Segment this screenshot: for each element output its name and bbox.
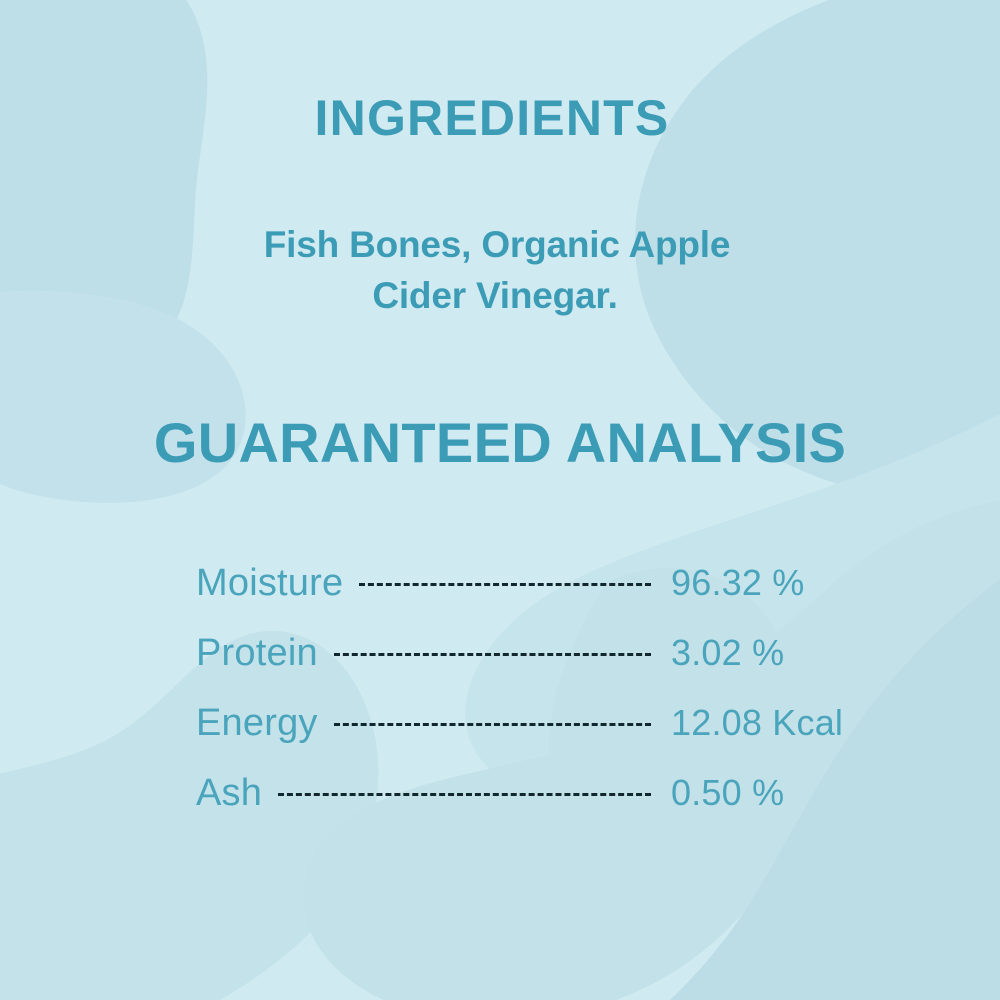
analysis-label: Ash <box>196 772 262 815</box>
analysis-label: Protein <box>196 632 318 675</box>
analysis-value: 0.50 % <box>667 772 856 814</box>
guaranteed-analysis-heading: GUARANTEED ANALYSIS <box>0 415 1000 471</box>
analysis-value: 12.08 Kcal <box>667 702 856 744</box>
analysis-label: Energy <box>196 702 318 745</box>
analysis-label: Moisture <box>196 562 343 605</box>
leader-dots <box>334 653 651 657</box>
ingredients-line-2: Cider Vinegar. <box>0 270 1000 321</box>
analysis-row-energy: Energy 12.08 Kcal <box>196 688 856 758</box>
ingredients-heading: INGREDIENTS <box>0 93 992 143</box>
ingredients-line-1: Fish Bones, Organic Apple <box>0 219 1000 270</box>
analysis-row-protein: Protein 3.02 % <box>196 618 856 688</box>
leader-dots <box>334 723 651 727</box>
guaranteed-analysis-table: Moisture 96.32 % Protein 3.02 % Energy 1… <box>196 548 856 828</box>
ingredients-text: Fish Bones, Organic Apple Cider Vinegar. <box>0 219 1000 321</box>
label-card: INGREDIENTS Fish Bones, Organic Apple Ci… <box>0 0 1000 1000</box>
leader-dots <box>359 583 651 587</box>
label-content: INGREDIENTS Fish Bones, Organic Apple Ci… <box>0 0 1000 1000</box>
analysis-value: 96.32 % <box>667 562 856 604</box>
analysis-value: 3.02 % <box>667 632 856 674</box>
leader-dots <box>278 793 651 797</box>
analysis-row-moisture: Moisture 96.32 % <box>196 548 856 618</box>
analysis-row-ash: Ash 0.50 % <box>196 758 856 828</box>
